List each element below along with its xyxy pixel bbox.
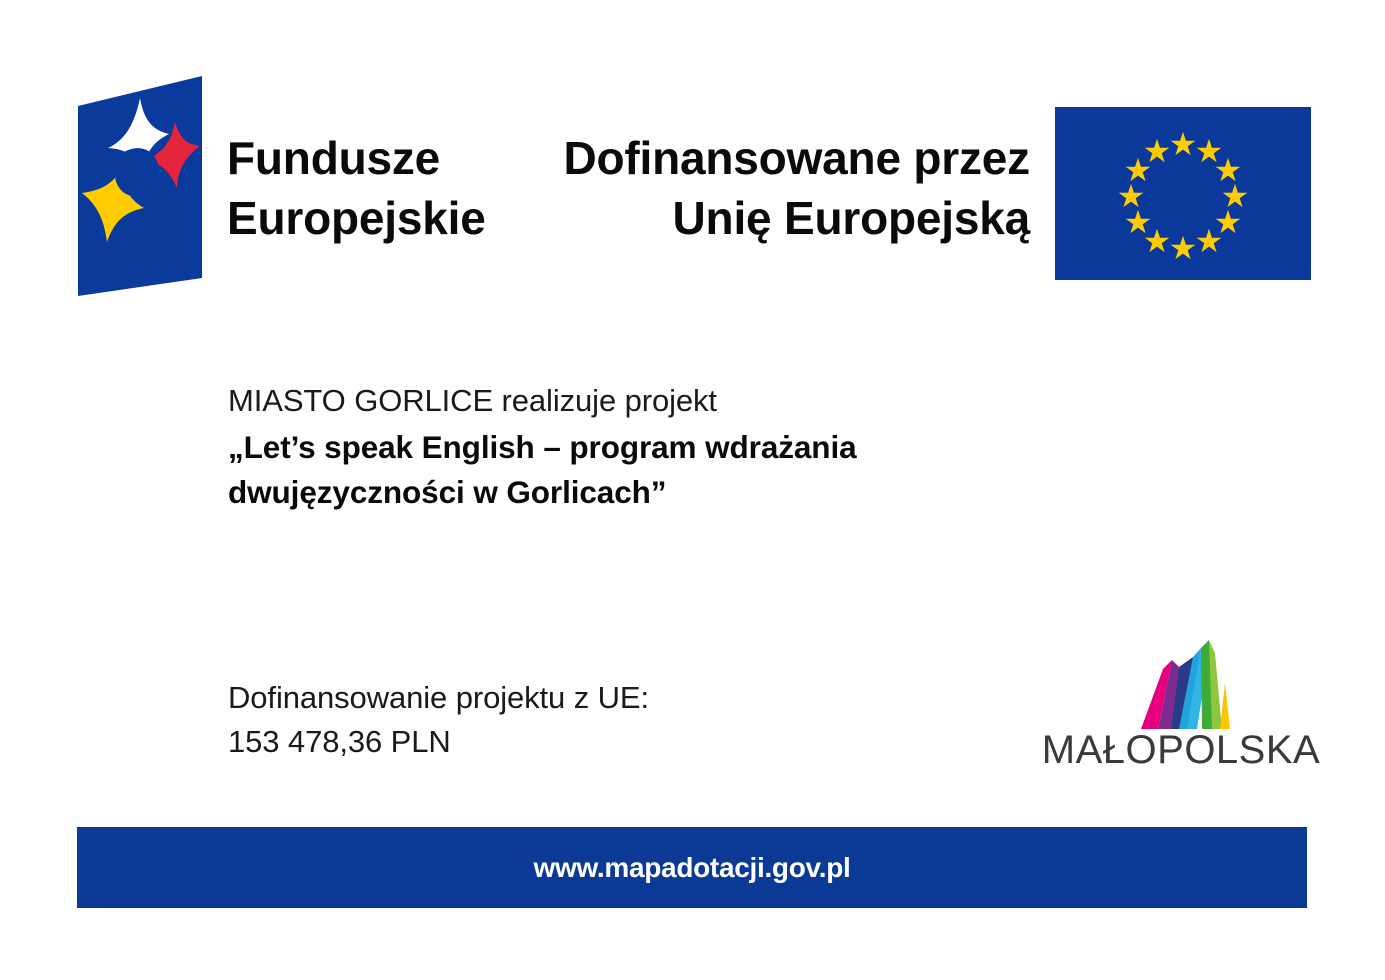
eu-funding-wordmark: Dofinansowane przez Unię Europejską — [520, 129, 1030, 249]
malopolska-logo: MAŁOPOLSKA — [1041, 637, 1321, 772]
eu-wordmark-line-1: Dofinansowane przez — [520, 129, 1030, 189]
project-intro-text: MIASTO GORLICE realizuje projekt — [228, 381, 1128, 422]
funding-amount-block: Dofinansowanie projektu z UE: 153 478,36… — [228, 676, 928, 764]
project-title-line-2: dwujęzyczności w Gorlicach” — [228, 470, 1128, 515]
project-description-block: MIASTO GORLICE realizuje projekt „Let’s … — [228, 381, 1128, 514]
fundusze-europejskie-logo-icon — [74, 72, 206, 300]
fundusze-europejskie-wordmark: Fundusze Europejskie — [227, 129, 527, 249]
eu-wordmark-line-2: Unię Europejską — [520, 189, 1030, 249]
eu-funding-poster: Fundusze Europejskie Dofinansowane przez… — [0, 0, 1385, 980]
malopolska-mountain-icon — [1133, 637, 1237, 729]
footer-bar: www.mapadotacji.gov.pl — [77, 827, 1307, 908]
poster-header: Fundusze Europejskie Dofinansowane przez… — [0, 0, 1385, 310]
project-title-text: „Let’s speak English – program wdrażania… — [228, 425, 1128, 514]
funding-label-text: Dofinansowanie projektu z UE: — [228, 676, 928, 720]
malopolska-wordmark: MAŁOPOLSKA — [1041, 729, 1321, 771]
footer-url-link[interactable]: www.mapadotacji.gov.pl — [534, 852, 851, 884]
funding-amount-value: 153 478,36 PLN — [228, 720, 928, 764]
fe-wordmark-line-2: Europejskie — [227, 189, 527, 249]
fe-wordmark-line-1: Fundusze — [227, 129, 527, 189]
project-title-line-1: „Let’s speak English – program wdrażania — [228, 425, 1128, 470]
european-union-flag-icon — [1055, 107, 1311, 280]
